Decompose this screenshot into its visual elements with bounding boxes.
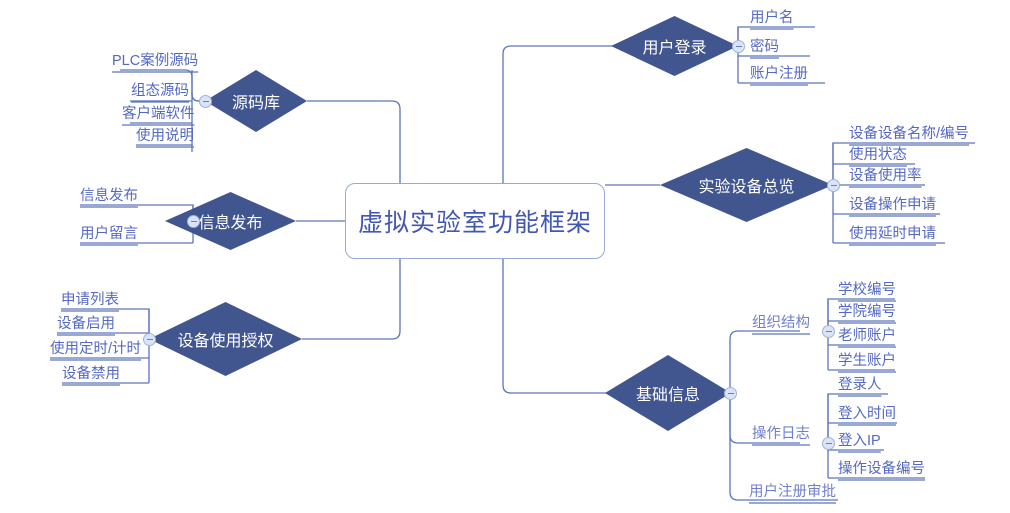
collapse-minus-icon-device-auth[interactable] xyxy=(143,333,156,346)
wire-basic-to-org xyxy=(730,331,800,393)
leaf-device-name-id[interactable]: 设备设备名称/编号 xyxy=(849,125,969,146)
leaf-username[interactable]: 用户名 xyxy=(750,9,794,30)
leaf-login-time[interactable]: 登入时间 xyxy=(838,405,896,426)
leaf-device-usage-rate[interactable]: 设备使用率 xyxy=(849,167,922,188)
branch-label-info-publish: 信息发布 xyxy=(198,209,262,233)
leaf-device-enable[interactable]: 设备启用 xyxy=(57,315,115,336)
leaf-school-id[interactable]: 学校编号 xyxy=(838,281,896,302)
leaf-timer-counter[interactable]: 使用定时/计时 xyxy=(50,340,141,361)
branch-node-info-publish[interactable]: 信息发布 xyxy=(165,192,296,250)
branch-node-device-overview[interactable]: 实验设备总览 xyxy=(660,148,833,222)
leaf-device-op-apply[interactable]: 设备操作申请 xyxy=(849,196,936,217)
collapse-minus-icon-source-code[interactable] xyxy=(199,95,212,108)
mindmap-canvas: 虚拟实验室功能框架 源码库 信息发布 设备使用授权 用户登录 实验设备总览 基础… xyxy=(0,0,1010,513)
wire-source-code-to-center xyxy=(307,101,400,183)
leaf-student-account[interactable]: 学生账户 xyxy=(838,352,896,373)
leaf-operated-device-id[interactable]: 操作设备编号 xyxy=(838,460,925,481)
leaf-device-disable[interactable]: 设备禁用 xyxy=(62,365,120,386)
branch-node-user-login[interactable]: 用户登录 xyxy=(611,16,738,76)
collapse-minus-icon-device-overview[interactable] xyxy=(827,179,840,192)
leaf-user-message[interactable]: 用户留言 xyxy=(80,225,138,246)
leaf-usage-status[interactable]: 使用状态 xyxy=(849,146,907,167)
branch-node-source-code[interactable]: 源码库 xyxy=(205,70,307,132)
leaf-client-software[interactable]: 客户端软件 xyxy=(122,105,195,126)
subbranch-label-org-structure[interactable]: 组织结构 xyxy=(752,314,810,335)
subbranch-label-signup-approval[interactable]: 用户注册审批 xyxy=(749,483,836,504)
leaf-plc-case-source[interactable]: PLC案例源码 xyxy=(112,52,198,73)
wire-center-to-basic-info xyxy=(503,259,615,393)
leaf-usage-manual[interactable]: 使用说明 xyxy=(136,127,194,148)
leaf-login-person[interactable]: 登录人 xyxy=(838,376,882,397)
wire-center-to-user-login xyxy=(503,46,625,183)
leaf-apply-list[interactable]: 申请列表 xyxy=(61,291,119,312)
branch-label-device-overview: 实验设备总览 xyxy=(698,173,794,197)
branch-label-user-login: 用户登录 xyxy=(642,34,706,58)
branch-label-basic-info: 基础信息 xyxy=(636,381,700,405)
leaf-login-ip[interactable]: 登入IP xyxy=(838,432,881,453)
leaf-account-signup[interactable]: 账户注册 xyxy=(750,65,808,86)
branch-label-source-code: 源码库 xyxy=(232,89,280,113)
wire-device-auth-to-center xyxy=(302,259,400,339)
branch-node-basic-info[interactable]: 基础信息 xyxy=(605,355,731,431)
collapse-minus-icon-user-login[interactable] xyxy=(732,40,745,53)
leaf-college-id[interactable]: 学院编号 xyxy=(838,303,896,324)
center-node-label: 虚拟实验室功能框架 xyxy=(358,203,592,239)
collapse-minus-icon-operation-log[interactable] xyxy=(822,437,835,450)
leaf-info-release[interactable]: 信息发布 xyxy=(80,187,138,208)
leaf-password[interactable]: 密码 xyxy=(750,38,779,59)
leaf-teacher-account[interactable]: 老师账户 xyxy=(838,327,896,348)
collapse-minus-icon-org-structure[interactable] xyxy=(822,325,835,338)
collapse-minus-icon-info-publish[interactable] xyxy=(187,215,200,228)
center-node[interactable]: 虚拟实验室功能框架 xyxy=(345,183,605,259)
collapse-minus-icon-basic-info[interactable] xyxy=(724,387,737,400)
subbranch-label-operation-log[interactable]: 操作日志 xyxy=(752,425,810,446)
branch-label-device-auth: 设备使用授权 xyxy=(177,327,273,351)
leaf-config-source[interactable]: 组态源码 xyxy=(131,82,189,103)
branch-node-device-auth[interactable]: 设备使用授权 xyxy=(149,302,302,376)
leaf-usage-extend-apply[interactable]: 使用延时申请 xyxy=(849,225,936,246)
